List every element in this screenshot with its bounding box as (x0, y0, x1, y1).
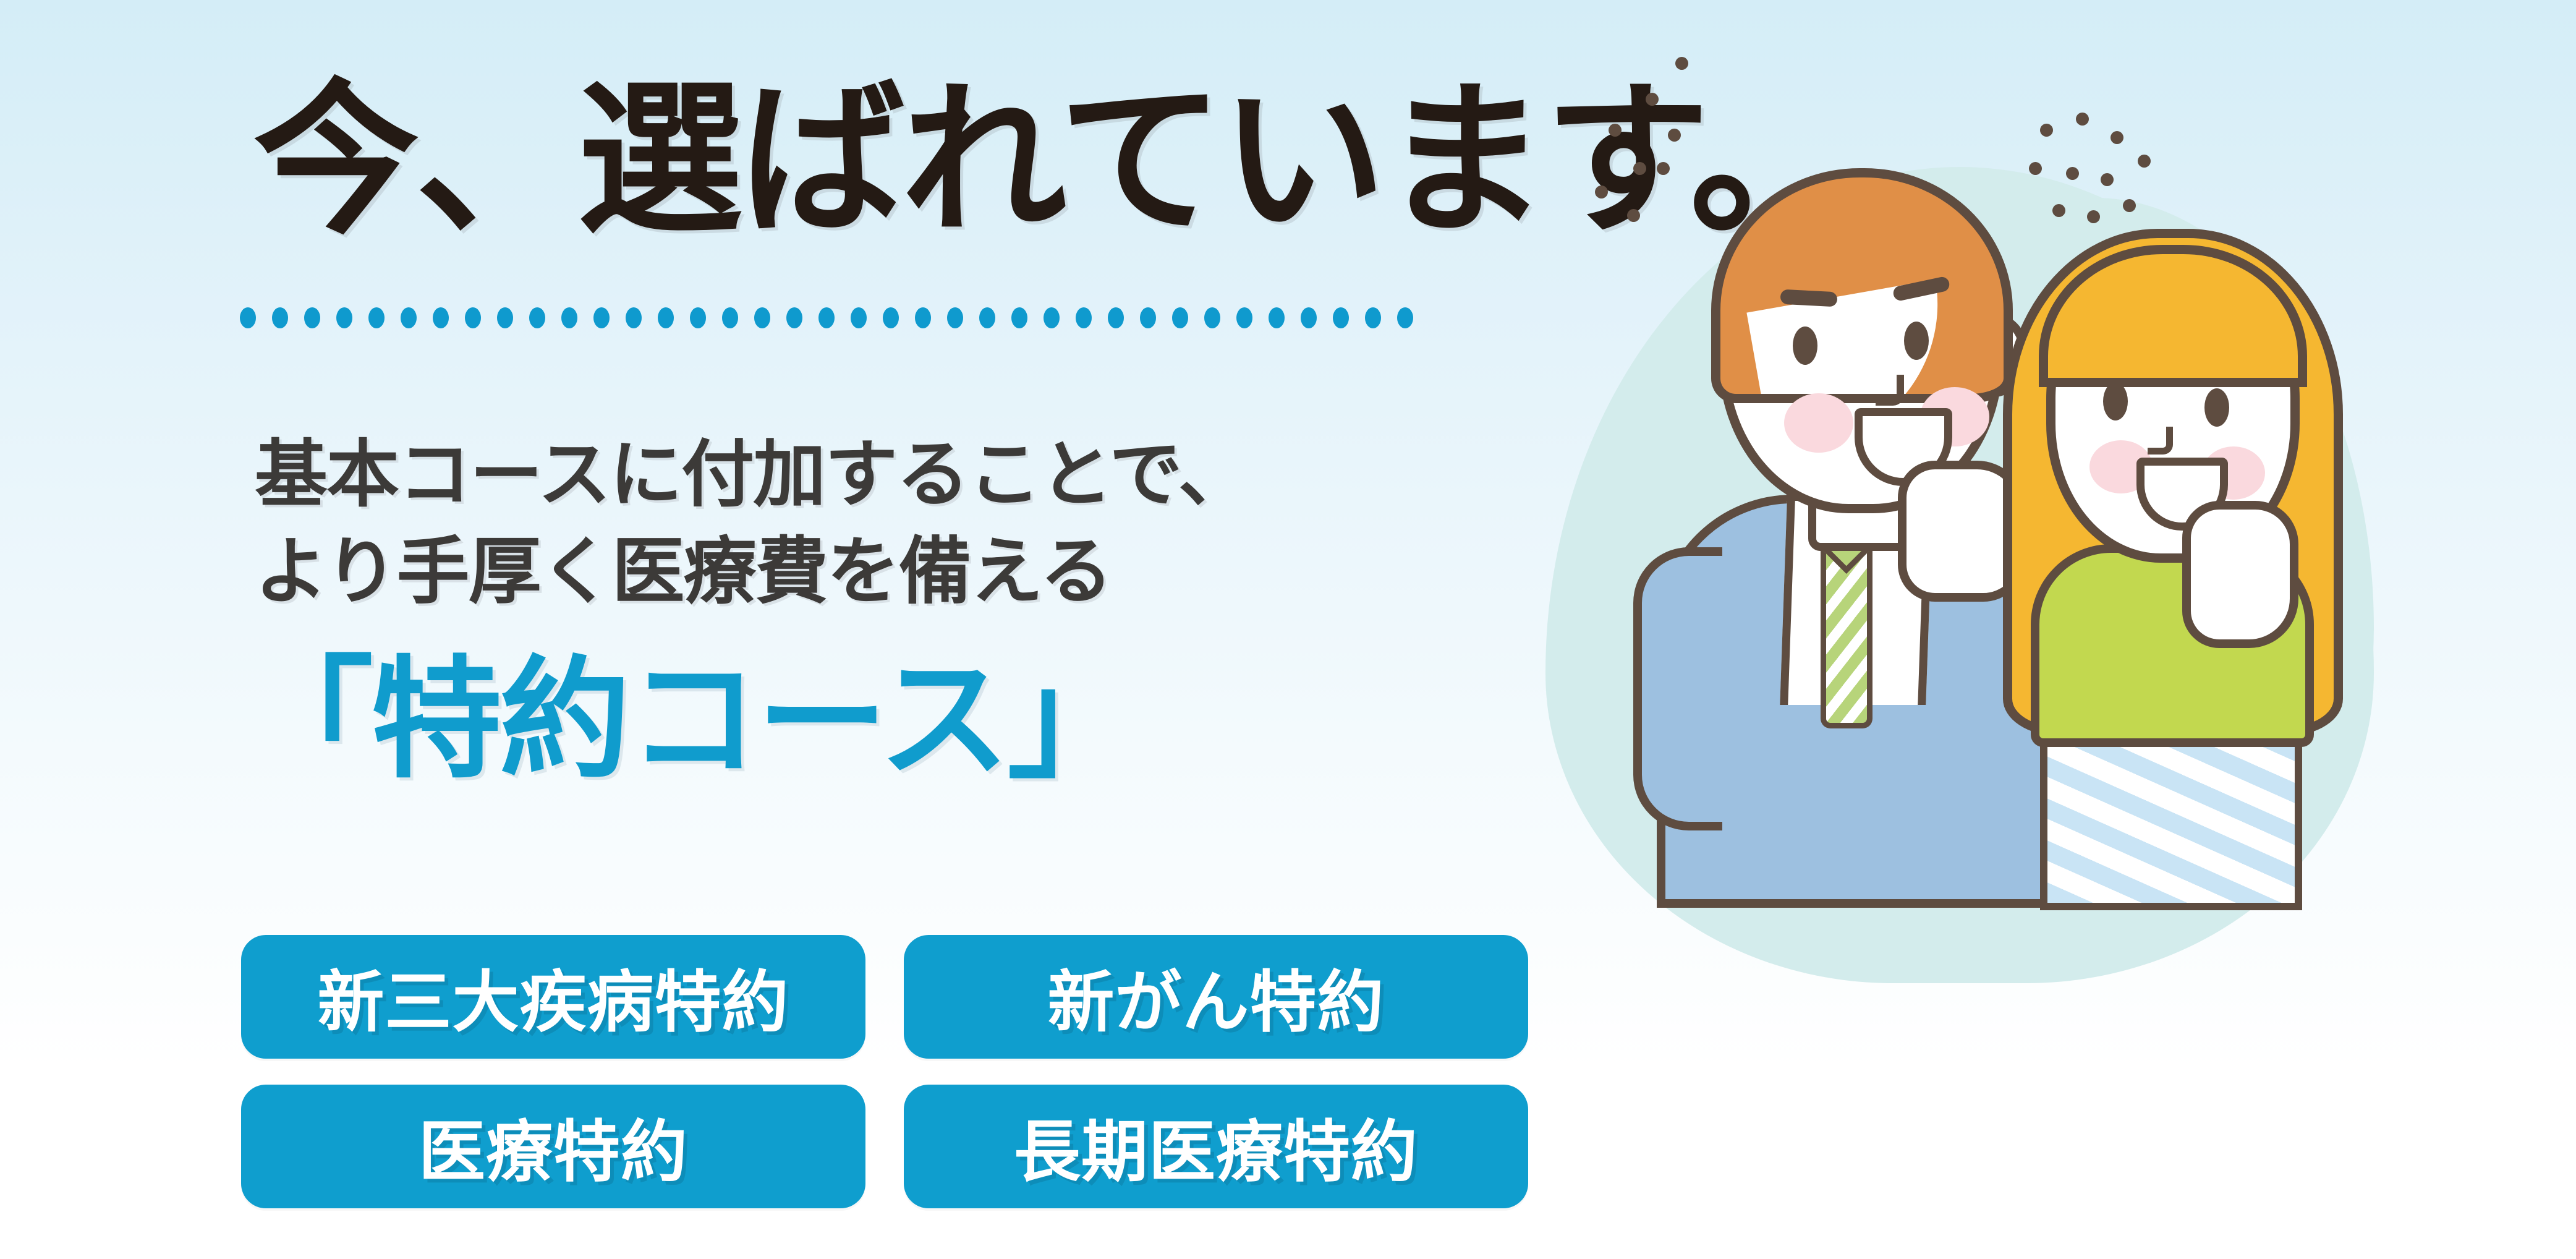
rider-pill-1[interactable]: 新がん特約 (904, 935, 1528, 1059)
divider-dot (465, 307, 481, 328)
divider-dot (1140, 307, 1156, 328)
man-eye-left (1793, 326, 1817, 365)
divider-dot (272, 307, 288, 328)
divider-dot (1301, 307, 1317, 328)
subheading: 基本コースに付加することで、 より手厚く医療費を備える (255, 427, 1429, 621)
divider-dot (1044, 307, 1060, 328)
man-eye-right (1904, 322, 1929, 360)
illustration-column: 顧客満足度 生命保険部門 (1471, 0, 2576, 1259)
divider-dot (1333, 307, 1349, 328)
headline: 今、選ばれています。 (253, 74, 1484, 247)
divider-dot (1076, 307, 1092, 328)
divider-dot (1108, 307, 1124, 328)
divider-dot (658, 307, 674, 328)
rider-pill-2[interactable]: 医療特約 (241, 1085, 865, 1208)
woman-eye-right (2204, 388, 2229, 427)
rider-pill-0[interactable]: 新三大疾病特約 (241, 935, 865, 1059)
text-column: 今、選ばれています。 基本コースに付加することで、 より手厚く医療費を備える 「… (0, 0, 1521, 1259)
main-title: 「特約コース」 (242, 651, 1417, 790)
divider-dot (1397, 307, 1413, 328)
man-eyebrow-left (1780, 289, 1837, 307)
divider-dot (529, 307, 545, 328)
divider-dot (883, 307, 899, 328)
divider-dot (979, 307, 995, 328)
divider-dot (947, 307, 963, 328)
rider-pill-grid: 新三大疾病特約 新がん特約 医療特約 長期医療特約 (241, 935, 1528, 1208)
rider-pill-label: 長期医療特約 (1014, 1098, 1418, 1195)
divider-dot (1236, 307, 1252, 328)
divider-dot (786, 307, 802, 328)
couple-illustration (1471, 0, 2576, 928)
divider-dot (1269, 307, 1285, 328)
rider-pill-3[interactable]: 長期医療特約 (904, 1085, 1528, 1208)
man-blush-left (1784, 393, 1853, 453)
divider-dot (818, 307, 835, 328)
divider-dot (336, 307, 352, 328)
dotted-divider (240, 304, 1449, 331)
man-hair (1711, 168, 2013, 403)
promo-banner: 今、選ばれています。 基本コースに付加することで、 より手厚く医療費を備える 「… (0, 0, 2576, 1259)
subheading-line-2: より手厚く医療費を備える (255, 524, 1429, 621)
divider-dot (497, 307, 513, 328)
divider-dot (690, 307, 706, 328)
divider-dot (433, 307, 449, 328)
rider-pill-label: 医療特約 (419, 1098, 688, 1195)
woman-eye-left (2103, 382, 2128, 420)
divider-dot (561, 307, 577, 328)
divider-dot (240, 307, 256, 328)
rider-pill-label: 新がん特約 (1047, 949, 1384, 1045)
divider-dot (626, 307, 642, 328)
divider-dot (1172, 307, 1188, 328)
woman-nose (2148, 427, 2173, 455)
woman-hand (2182, 501, 2298, 648)
divider-dot (851, 307, 867, 328)
divider-dot (1365, 307, 1381, 328)
divider-dot (722, 307, 738, 328)
divider-dot (368, 307, 385, 328)
divider-dot (401, 307, 417, 328)
divider-dot (593, 307, 610, 328)
divider-dot (1011, 307, 1027, 328)
divider-dot (1204, 307, 1220, 328)
divider-dot (304, 307, 320, 328)
divider-dot (915, 307, 931, 328)
man-nose (1876, 375, 1904, 406)
rider-pill-label: 新三大疾病特約 (317, 949, 789, 1045)
man-arm (1633, 547, 1722, 830)
divider-dot (754, 307, 770, 328)
subheading-line-1: 基本コースに付加することで、 (255, 427, 1429, 524)
